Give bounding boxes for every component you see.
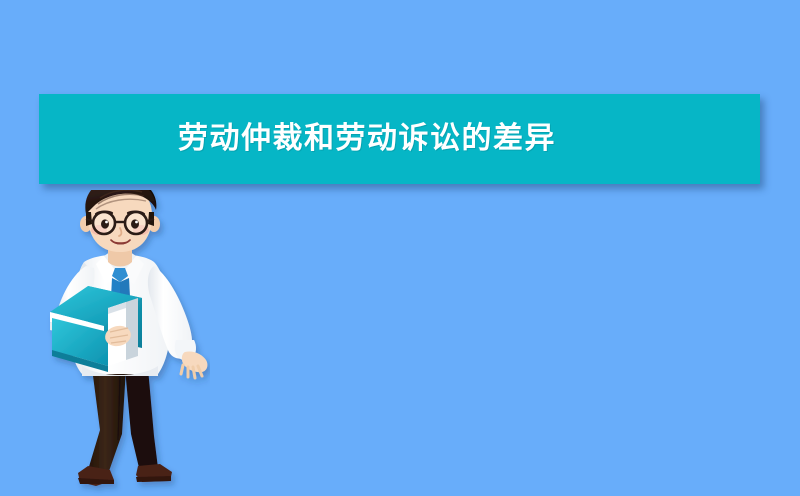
head <box>80 190 160 252</box>
character-body <box>50 190 207 486</box>
right-hand <box>181 351 207 378</box>
legs <box>88 368 158 474</box>
page-title: 劳动仲裁和劳动诉讼的差异 <box>178 124 556 154</box>
title-banner: 劳动仲裁和劳动诉讼的差异 <box>39 94 760 184</box>
slide-canvas: 劳动仲裁和劳动诉讼的差异 <box>0 0 800 496</box>
shoes <box>78 464 172 486</box>
illustration-businessman <box>30 190 210 496</box>
